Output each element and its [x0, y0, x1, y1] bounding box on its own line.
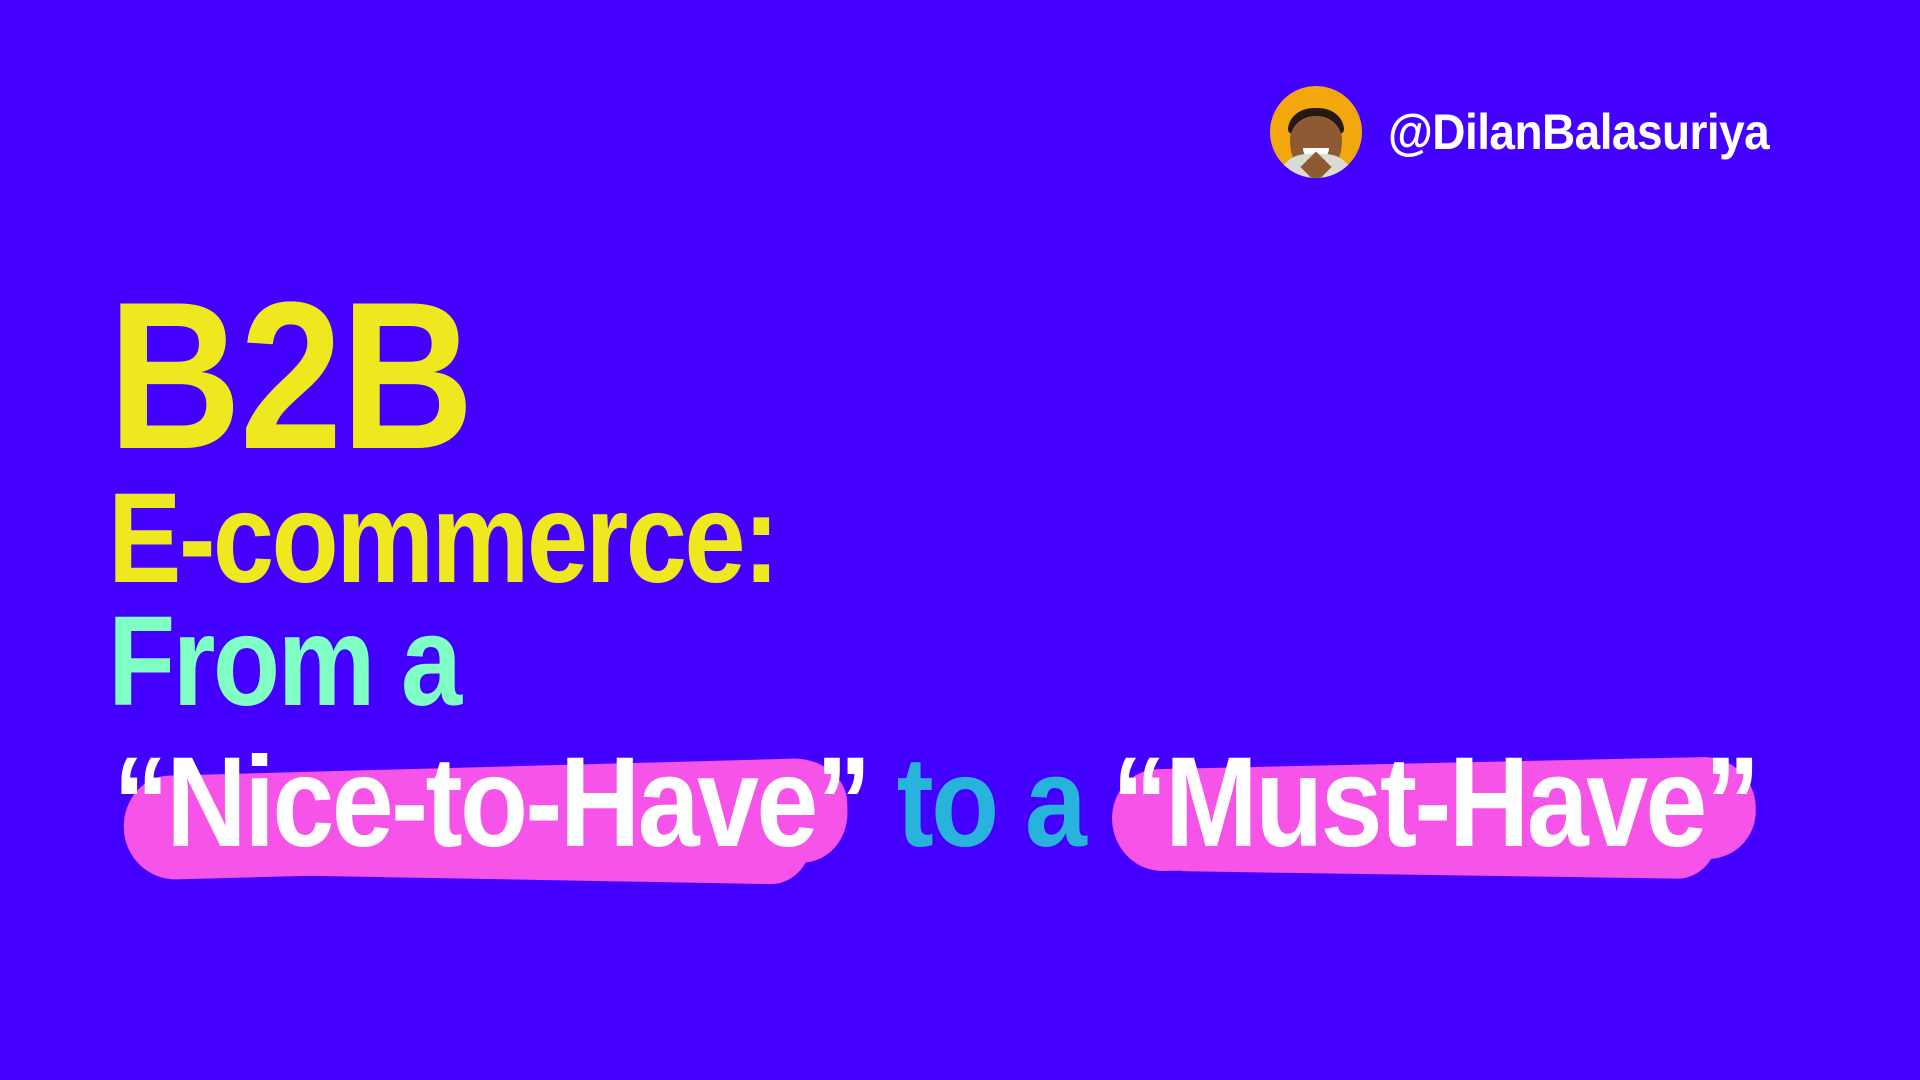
headline-connector-to-a: to a [874, 729, 1107, 876]
headline-line-ecommerce: E-commerce: [108, 479, 1604, 598]
highlight-chip-must-have: “Must-Have” [1107, 729, 1763, 876]
author-credit: @DilanBalasuriya [1270, 86, 1802, 178]
author-handle: @DilanBalasuriya [1388, 107, 1769, 157]
chip-nice-label: Nice-to-Have [166, 731, 815, 874]
chip-must-close-quote: ” [1705, 731, 1758, 874]
chip-nice-close-quote: ” [816, 731, 869, 874]
headline-line-final: “Nice-to-Have” to a “Must-Have” [108, 729, 1848, 899]
headline-line-b2b: B2B [108, 278, 1639, 473]
headline-final-inner: “Nice-to-Have” to a “Must-Have” [108, 729, 1763, 876]
chip-must-open-quote: “ [1112, 731, 1165, 874]
slide-canvas: @DilanBalasuriya B2B E-commerce: From a … [0, 0, 1920, 1080]
chip-must-label: Must-Have [1165, 731, 1705, 874]
chip-nice-open-quote: “ [113, 731, 166, 874]
highlight-chip-nice-to-have: “Nice-to-Have” [108, 729, 874, 876]
avatar [1270, 86, 1362, 178]
headline-line-from-a: From a [108, 602, 1604, 721]
headline-block: B2B E-commerce: From a “Nice-to-Have” to… [108, 278, 1848, 899]
